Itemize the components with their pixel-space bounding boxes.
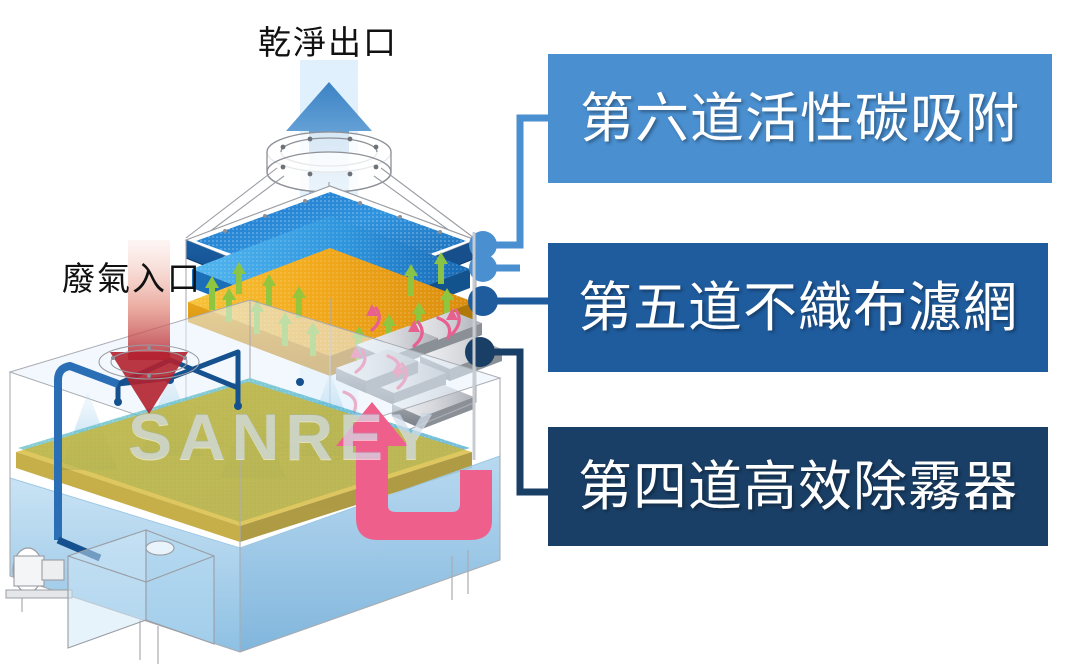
waste-gas-inlet-label: 廢氣入口 bbox=[62, 252, 202, 300]
callout-stage-5-nonwoven-filter[interactable]: 第五道不織布濾網 bbox=[548, 243, 1048, 372]
callout-stage-5-label: 第五道不織布濾網 bbox=[578, 281, 1018, 335]
callout-stage-4-label: 第四道高效除霧器 bbox=[578, 460, 1018, 514]
clean-outlet-label: 乾淨出口 bbox=[258, 16, 398, 64]
diagram-canvas: SANREY 乾淨出口 廢氣入口 第六道活性碳吸附 第五道不織布濾網 第四道高效… bbox=[0, 0, 1066, 664]
callout-stage-4-demister[interactable]: 第四道高效除霧器 bbox=[548, 427, 1048, 546]
dot-demister bbox=[465, 337, 495, 367]
callout-stage-6-label: 第六道活性碳吸附 bbox=[580, 92, 1020, 146]
callout-stage-6-activated-carbon[interactable]: 第六道活性碳吸附 bbox=[548, 54, 1052, 183]
